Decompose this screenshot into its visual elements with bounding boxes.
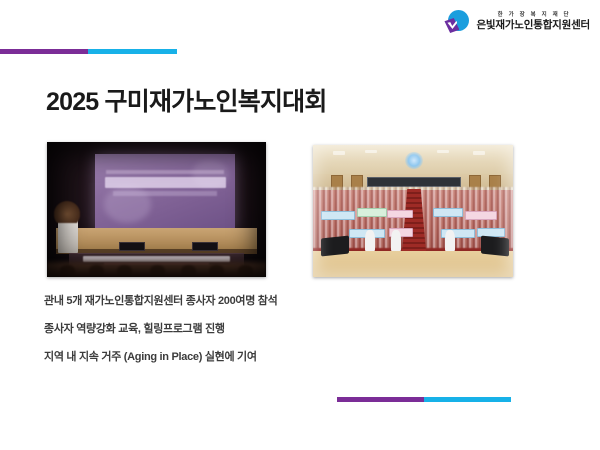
audience-group-photo: [313, 145, 513, 277]
accent-bar-bottom-purple: [337, 397, 424, 402]
audience-photo-vignette: [313, 145, 513, 277]
stage-ceremony-photo: [47, 142, 266, 277]
bullet-item-2: 종사자 역량강화 교육, 힐링프로그램 진행: [44, 324, 484, 335]
logo-text-block: 한 가 장 복 지 재 단 은빛재가노인통합지원센터: [476, 13, 590, 31]
bullet-item-1: 관내 5개 재가노인통합지원센터 종사자 200여명 참석: [44, 296, 484, 307]
accent-bar-top-purple: [0, 49, 88, 54]
logo-foundation-label: 한 가 장 복 지 재 단: [496, 13, 571, 19]
presentation-slide: 한 가 장 복 지 재 단 은빛재가노인통합지원센터 2025 구미재가노인복지…: [0, 0, 600, 450]
bullet-item-3: 지역 내 지속 거주 (Aging in Place) 실현에 기여: [44, 352, 484, 363]
accent-bar-top-cyan: [88, 49, 177, 54]
silver-light-center-logo-icon: [444, 9, 470, 35]
organization-logo: 한 가 장 복 지 재 단 은빛재가노인통합지원센터: [444, 9, 590, 35]
logo-center-name: 은빛재가노인통합지원센터: [476, 20, 590, 31]
page-title: 2025 구미재가노인복지대회: [46, 82, 327, 118]
accent-bar-bottom-cyan: [424, 397, 511, 402]
stage-photo-vignette: [47, 142, 266, 277]
bullet-list: 관내 5개 재가노인통합지원센터 종사자 200여명 참석 종사자 역량강화 교…: [44, 296, 484, 380]
